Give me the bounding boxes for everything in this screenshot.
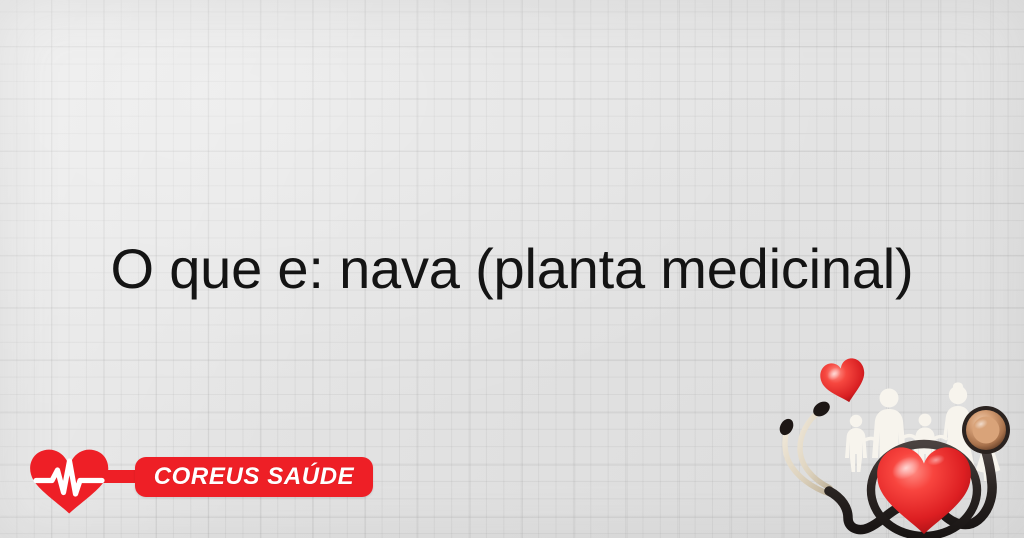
brand-name-label: COREUS SAÚDE	[135, 457, 373, 497]
small-red-heart-icon	[818, 356, 871, 408]
slide-canvas: O que e: nava (planta medicinal) COREUS …	[0, 0, 1024, 538]
page-title: O que e: nava (planta medicinal)	[0, 238, 1024, 300]
heart-pulse-icon	[28, 447, 110, 515]
stethoscope-chestpiece-icon	[962, 406, 1010, 454]
family-health-stethoscope-illustration	[772, 342, 1024, 538]
family-figure-child-left	[845, 415, 867, 472]
brand-logo[interactable]: COREUS SAÚDE	[28, 447, 348, 515]
